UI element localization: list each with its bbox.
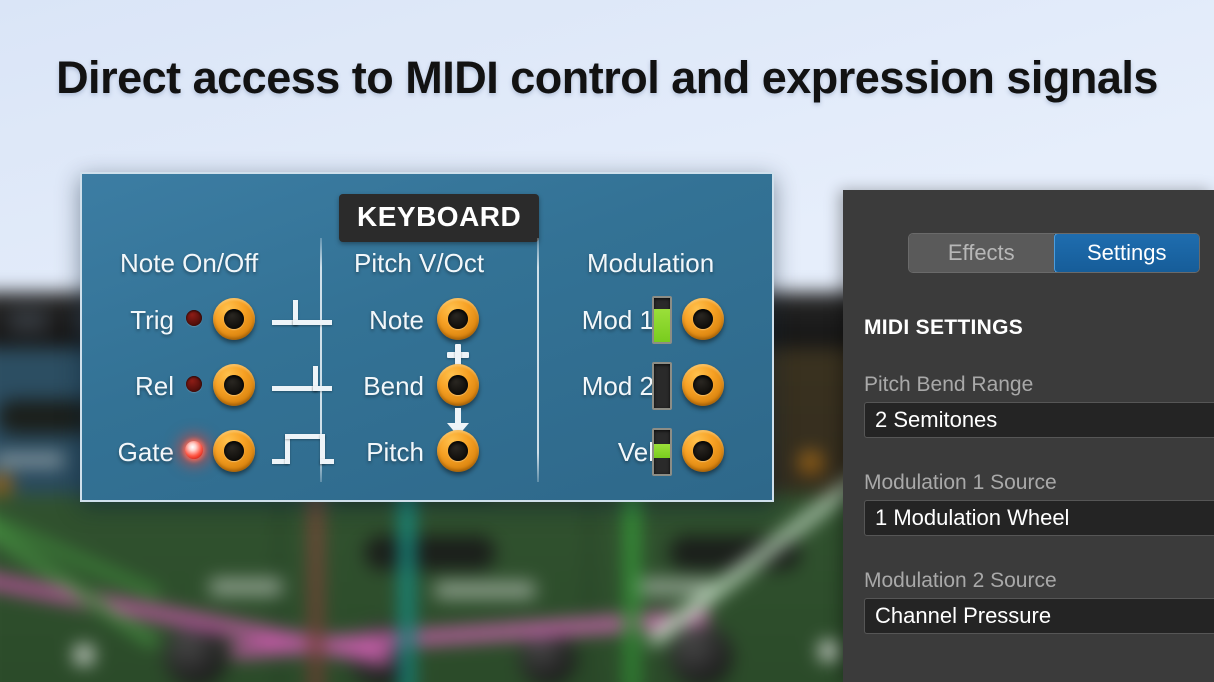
row-label-trig: Trig <box>102 305 174 336</box>
row-label-mod-2: Mod 2 <box>554 371 654 402</box>
vel-jack[interactable] <box>682 430 724 472</box>
select-value-modulation-1-source: 1 Modulation Wheel <box>875 505 1069 531</box>
rel-jack[interactable] <box>213 364 255 406</box>
release-pulse-up-icon <box>272 366 332 404</box>
row-label-bend: Bend <box>334 371 424 402</box>
midi-settings-heading: MIDI SETTINGS <box>864 316 1023 340</box>
keyboard-panel: KEYBOARD Note On/Off Trig Rel <box>80 172 774 502</box>
field-modulation-1-source: Modulation 1 Source 1 Modulation Wheel <box>864 471 1214 536</box>
background-button <box>820 642 838 660</box>
tab-effects[interactable]: Effects <box>909 234 1054 272</box>
gate-square-icon <box>272 428 334 468</box>
settings-panel: Effects Settings MIDI SETTINGS Pitch Ben… <box>843 190 1214 682</box>
background-jack <box>800 452 822 474</box>
background-label <box>435 582 535 598</box>
column-title-note-on-off: Note On/Off <box>120 248 258 279</box>
trig-jack[interactable] <box>213 298 255 340</box>
select-value-modulation-2-source: Channel Pressure <box>875 603 1051 629</box>
select-value-pitch-bend-range: 2 Semitones <box>875 407 997 433</box>
bend-jack[interactable] <box>437 364 479 406</box>
background-knob <box>165 624 227 682</box>
rel-led-indicator <box>186 376 202 392</box>
tab-settings-label: Settings <box>1087 240 1167 266</box>
column-title-pitch-voct: Pitch V/Oct <box>354 248 484 279</box>
background-button <box>75 646 93 664</box>
field-modulation-2-source: Modulation 2 Source Channel Pressure <box>864 569 1214 634</box>
select-modulation-2-source[interactable]: Channel Pressure <box>864 598 1214 634</box>
select-pitch-bend-range[interactable]: 2 Semitones <box>864 402 1214 438</box>
background-toolbar-button <box>8 306 48 334</box>
select-modulation-1-source[interactable]: 1 Modulation Wheel <box>864 500 1214 536</box>
tab-settings[interactable]: Settings <box>1054 233 1201 273</box>
slide-root: Direct access to MIDI control and expres… <box>0 0 1214 682</box>
field-label-modulation-1-source: Modulation 1 Source <box>864 471 1214 495</box>
background-label <box>0 454 64 466</box>
gate-led-indicator <box>185 441 203 459</box>
column-title-modulation: Modulation <box>587 248 714 279</box>
tab-group: Effects Settings <box>908 233 1200 273</box>
row-label-note: Note <box>344 305 424 336</box>
field-pitch-bend-range: Pitch Bend Range 2 Semitones <box>864 373 1214 438</box>
field-label-modulation-2-source: Modulation 2 Source <box>864 569 1214 593</box>
tab-effects-label: Effects <box>948 240 1015 266</box>
keyboard-panel-badge: KEYBOARD <box>339 194 539 242</box>
pitch-jack[interactable] <box>437 430 479 472</box>
mod-1-level-meter <box>652 296 672 344</box>
row-label-pitch: Pitch <box>334 437 424 468</box>
gate-jack[interactable] <box>213 430 255 472</box>
vel-level-meter <box>652 428 672 476</box>
page-title: Direct access to MIDI control and expres… <box>0 52 1214 104</box>
row-label-mod-1: Mod 1 <box>554 305 654 336</box>
trigger-pulse-down-icon <box>272 300 332 338</box>
mod2-jack[interactable] <box>682 364 724 406</box>
row-label-rel: Rel <box>102 371 174 402</box>
row-label-gate: Gate <box>92 437 174 468</box>
mod-2-level-meter <box>652 362 672 410</box>
trig-led-indicator <box>186 310 202 326</box>
plus-operator-icon <box>447 344 469 366</box>
column-divider <box>537 238 539 482</box>
background-knob <box>670 624 732 682</box>
field-label-pitch-bend-range: Pitch Bend Range <box>864 373 1214 397</box>
background-label <box>210 579 282 595</box>
row-label-vel: Vel <box>564 437 654 468</box>
mod1-jack[interactable] <box>682 298 724 340</box>
note-jack[interactable] <box>437 298 479 340</box>
background-pill <box>365 536 495 570</box>
